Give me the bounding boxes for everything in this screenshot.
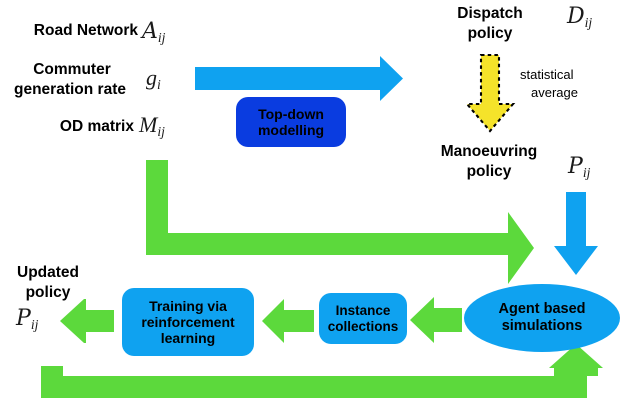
- input-symbol-commuter-generation-rate: gi: [146, 65, 161, 93]
- arrow-training-to-updated-policy: [60, 299, 114, 343]
- symbol-glyph-D: D: [567, 4, 585, 29]
- node-label-line2: simulations: [502, 318, 583, 334]
- node-label-line3: learning: [161, 330, 215, 346]
- symbol-glyph-g: g: [146, 65, 157, 90]
- node-training-text: Training via reinforcement learning: [141, 298, 234, 346]
- input-label-od-matrix: OD matrix: [6, 118, 134, 135]
- arrow-inputs-to-dispatch: [195, 56, 403, 101]
- node-top-down-modelling-text: Top-down modelling: [258, 106, 324, 138]
- node-label-dispatch-policy-line2: policy: [425, 25, 555, 42]
- node-label-line1: Agent based: [498, 301, 585, 317]
- symbol-subscript-ij: ij: [158, 30, 166, 45]
- symbol-subscript-i: i: [157, 77, 161, 92]
- input-symbol-od-matrix: Mij: [139, 112, 165, 140]
- node-label-line2: modelling: [258, 122, 324, 138]
- arrow-statistical-average: [467, 55, 513, 131]
- node-instance-collections[interactable]: Instance collections: [319, 293, 407, 344]
- arrow-instances-to-training: [262, 299, 314, 343]
- node-agent-based-simulations-text: Agent based simulations: [498, 301, 585, 334]
- node-training-via-reinforcement-learning[interactable]: Training via reinforcement learning: [122, 288, 254, 356]
- node-label-line1: Training via: [149, 298, 227, 314]
- symbol-subscript-ij: ij: [585, 15, 593, 30]
- node-symbol-dispatch-policy: Dij: [567, 3, 592, 31]
- edge-label-statistical-average-line2: average: [531, 86, 631, 101]
- edge-label-statistical-average-line1: statistical: [520, 68, 620, 83]
- symbol-glyph-P: P: [16, 306, 31, 331]
- input-label-commuter-generation-rate-line2: generation rate: [0, 81, 140, 98]
- symbol-subscript-ij: ij: [31, 317, 39, 332]
- node-label-line1: Instance: [336, 303, 391, 318]
- symbol-glyph-A: A: [142, 19, 158, 44]
- arrow-manoeuvring-to-simulations: [554, 192, 598, 275]
- input-symbol-road-network: Aij: [142, 18, 165, 46]
- node-label-line2: reinforcement: [141, 314, 234, 330]
- arrow-simulations-to-instances: [410, 297, 462, 343]
- symbol-glyph-M: M: [139, 112, 157, 137]
- symbol-subscript-ij: ij: [583, 165, 591, 180]
- node-label-dispatch-policy-line1: Dispatch: [425, 5, 555, 22]
- symbol-glyph-P: P: [568, 154, 583, 179]
- node-label-line1: Top-down: [258, 106, 324, 122]
- node-symbol-manoeuvring-policy: Pij: [568, 153, 590, 181]
- input-label-road-network: Road Network: [6, 22, 138, 39]
- node-label-manoeuvring-policy-line2: policy: [418, 163, 560, 180]
- node-symbol-updated-policy: Pij: [16, 305, 38, 333]
- node-label-updated-policy-line2: policy: [0, 284, 96, 301]
- node-label-manoeuvring-policy-line1: Manoeuvring: [418, 143, 560, 160]
- input-label-commuter-generation-rate-line1: Commuter: [6, 61, 138, 78]
- symbol-subscript-ij: ij: [157, 124, 165, 139]
- node-top-down-modelling[interactable]: Top-down modelling: [236, 97, 346, 147]
- node-instance-collections-text: Instance collections: [328, 303, 399, 334]
- node-label-line2: collections: [328, 319, 399, 334]
- node-label-updated-policy-line1: Updated: [0, 264, 96, 281]
- node-agent-based-simulations[interactable]: Agent based simulations: [464, 284, 620, 352]
